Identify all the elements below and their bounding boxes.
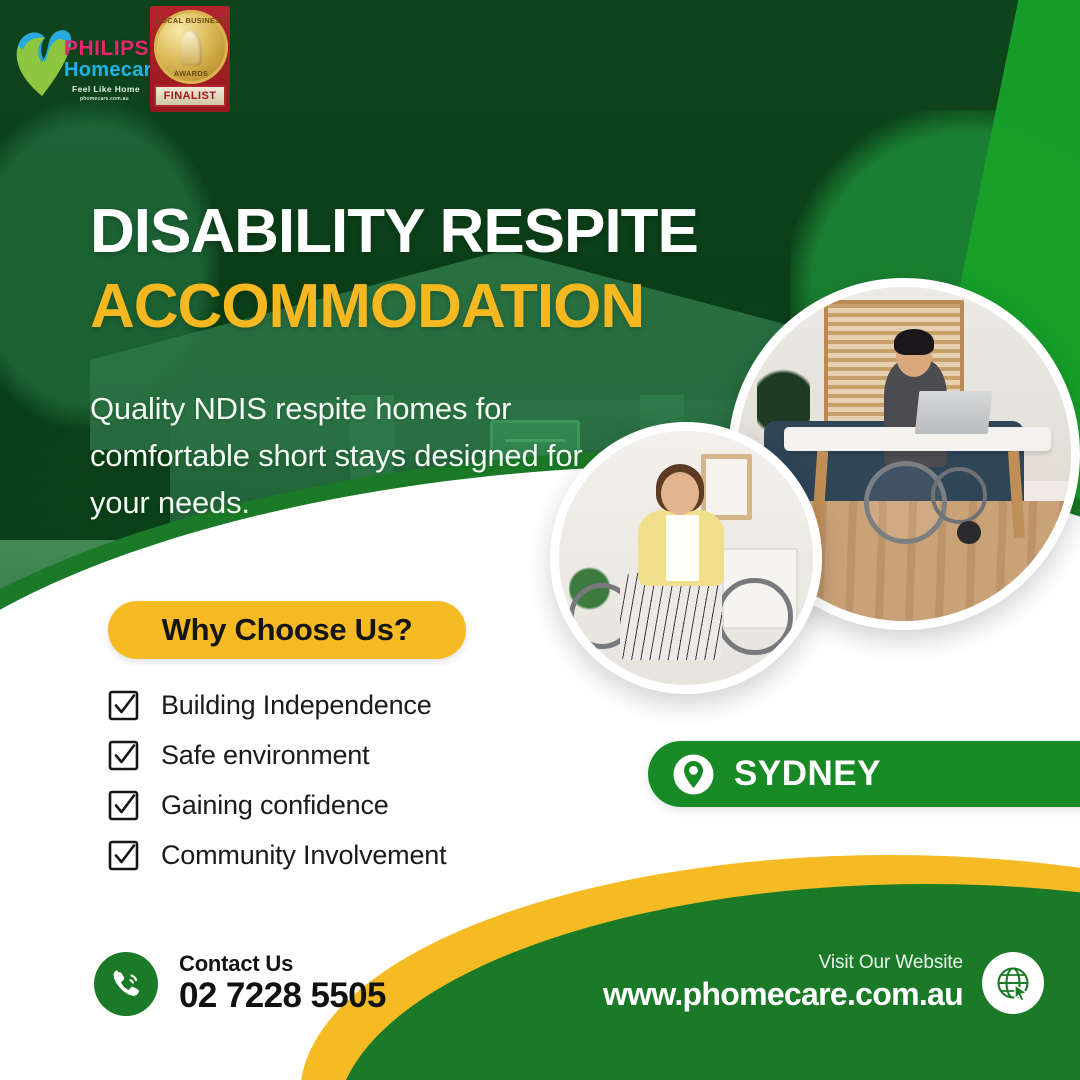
list-item: Gaining confidence (108, 788, 628, 822)
website-url[interactable]: www.phomecare.com.au (603, 975, 963, 1013)
list-item-label: Safe environment (161, 742, 369, 769)
location-badge-sydney[interactable]: SYDNEY (648, 741, 1080, 807)
visit-website-label: Visit Our Website (603, 952, 963, 975)
award-bottom-text: AWARDS (154, 69, 228, 78)
photo-woman-head (661, 472, 699, 515)
checkbox-checked-icon (108, 740, 139, 771)
website-block[interactable]: Visit Our Website www.phomecare.com.au (603, 952, 1044, 1014)
list-item-label: Community Involvement (161, 842, 446, 869)
photo-striped-pants (620, 573, 722, 659)
list-item: Safe environment (108, 738, 628, 772)
trophy-icon (180, 30, 202, 66)
logo-url: phomecare.com.au (80, 96, 129, 102)
photo-wheelchair-castor (957, 521, 980, 544)
headline-block: DISABILITY RESPITE ACCOMMODATION (90, 200, 790, 338)
globe-cursor-icon (982, 952, 1044, 1014)
contact-text: Contact Us 02 7228 5505 (179, 952, 386, 1016)
benefits-checklist: Building Independence Safe environment G… (108, 688, 628, 888)
location-label: SYDNEY (734, 754, 881, 794)
logo-name-primary: PHILIPS (64, 38, 163, 59)
list-item-label: Gaining confidence (161, 792, 389, 819)
award-ribbon: FINALIST (154, 85, 226, 107)
logo-tagline: Feel Like Home (72, 84, 140, 94)
award-top-text: LOCAL BUSINESS (154, 16, 228, 25)
why-choose-us-label: Why Choose Us? (162, 612, 413, 648)
website-text: Visit Our Website www.phomecare.com.au (603, 952, 963, 1013)
poster-canvas: PHILIPS Homecare Feel Like Home phomecar… (0, 0, 1080, 1080)
checkbox-checked-icon (108, 840, 139, 871)
checkbox-checked-icon (108, 790, 139, 821)
list-item: Community Involvement (108, 838, 628, 872)
phone-call-icon (94, 952, 158, 1016)
headline-line-1: DISABILITY RESPITE (90, 200, 790, 263)
award-ribbon-text: FINALIST (164, 90, 217, 102)
photo-wheelchair-wheel-back (931, 467, 988, 524)
checkbox-checked-icon (108, 690, 139, 721)
photo-picture-frame (701, 454, 752, 520)
photo-woman-scene (559, 431, 813, 685)
why-choose-us-badge: Why Choose Us? (108, 601, 466, 659)
list-item-label: Building Independence (161, 692, 432, 719)
contact-label: Contact Us (179, 952, 386, 976)
contact-phone-number[interactable]: 02 7228 5505 (179, 976, 386, 1016)
photo-wheel-right (716, 578, 792, 654)
photo-circle-woman-wheelchair (550, 422, 822, 694)
photo-person-hair (894, 329, 934, 356)
list-item: Building Independence (108, 688, 628, 722)
contact-block[interactable]: Contact Us 02 7228 5505 (94, 952, 386, 1016)
photo-white-shirt (666, 515, 699, 581)
photo-laptop (915, 391, 993, 434)
award-medal-disc: LOCAL BUSINESS AWARDS (154, 10, 228, 84)
logo-name-secondary: Homecare (64, 59, 163, 82)
logo-wordmark: PHILIPS Homecare (64, 38, 163, 82)
award-badge: LOCAL BUSINESS AWARDS FINALIST (150, 6, 230, 112)
location-pin-icon (672, 753, 715, 796)
brand-logo[interactable]: PHILIPS Homecare Feel Like Home phomecar… (12, 16, 152, 106)
subheading-text: Quality NDIS respite homes for comfortab… (90, 385, 630, 526)
headline-line-2: ACCOMMODATION (90, 275, 790, 338)
